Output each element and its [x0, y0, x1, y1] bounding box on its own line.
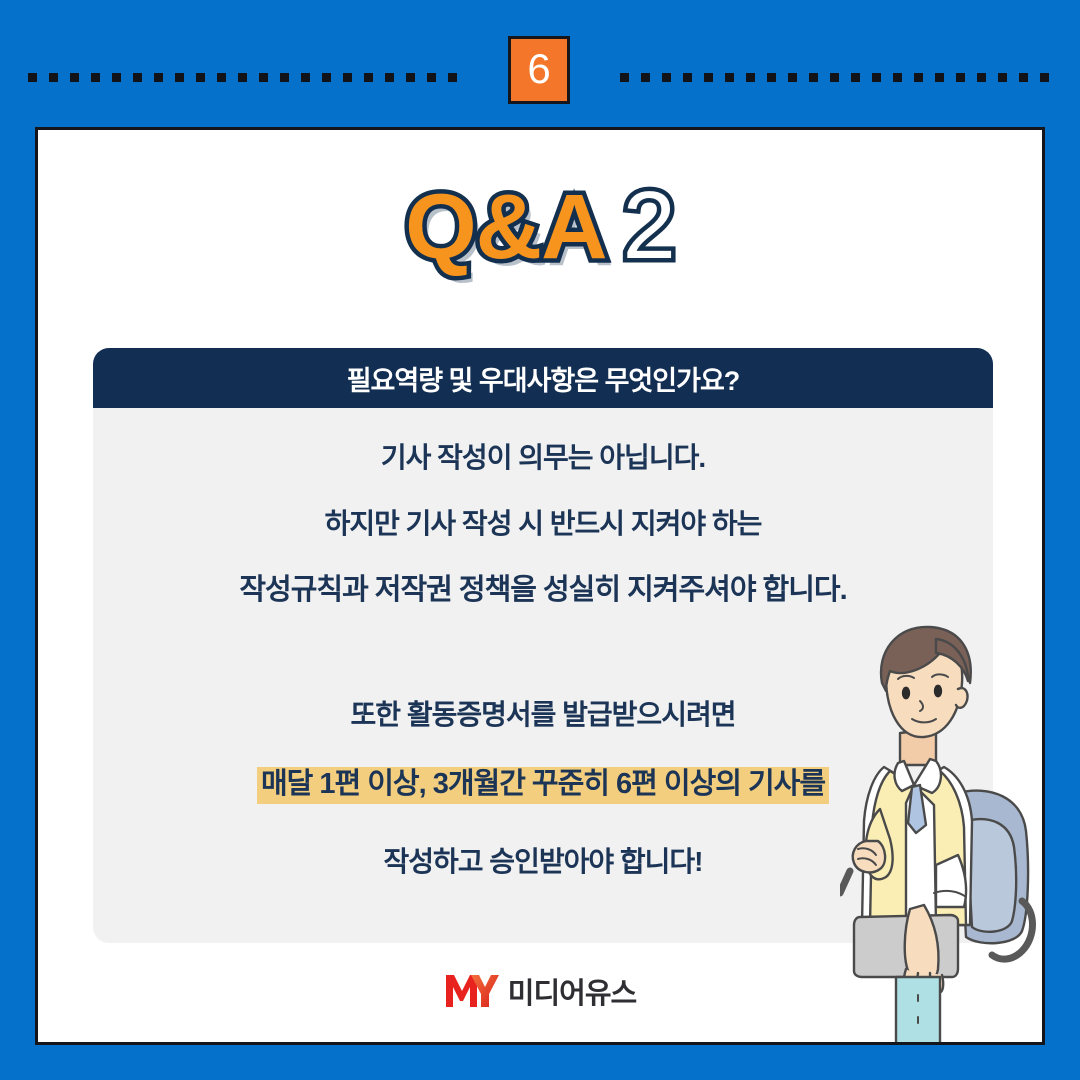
dotted-line-icon-right: [620, 73, 1054, 82]
answer-line: 매달 1편 이상, 3개월간 꾸준히 6편 이상의 기사를: [93, 767, 993, 804]
question-header: 필요역량 및 우대사항은 무엇인가요?: [93, 348, 993, 408]
top-bar: 6: [0, 0, 1080, 127]
answer-line: 또한 활동증명서를 발급받으시려면: [93, 701, 993, 729]
answer-line: 작성규칙과 저작권 정책을 성실히 지켜주셔야 합니다.: [93, 576, 993, 605]
content-card: Q&A2 필요역량 및 우대사항은 무엇인가요? 기사 작성이 의무는 아닙니다…: [35, 127, 1045, 1045]
qa-panel: 필요역량 및 우대사항은 무엇인가요? 기사 작성이 의무는 아닙니다.하지만 …: [93, 348, 993, 943]
answer-line: 하지만 기사 작성 시 반드시 지켜야 하는: [93, 510, 993, 538]
my-logo-mark-icon: [444, 974, 500, 1008]
answer-line: 기사 작성이 의무는 아닙니다.: [93, 444, 993, 472]
brand-logo: 미디어유스: [38, 970, 1042, 1012]
brand-name: 미디어유스: [508, 970, 636, 1012]
page-title: Q&A2: [38, 178, 1042, 274]
highlighted-text: 매달 1편 이상, 3개월간 꾸준히 6편 이상의 기사를: [257, 767, 829, 804]
page-number-badge: 6: [508, 36, 570, 104]
page-number-label: 6: [527, 48, 550, 90]
dotted-line-icon-left: [28, 73, 458, 82]
question-text: 필요역량 및 우대사항은 무엇인가요?: [347, 359, 740, 398]
page-title-primary: Q&A: [405, 176, 606, 278]
answer-body: 기사 작성이 의무는 아닙니다.하지만 기사 작성 시 반드시 지켜야 하는작성…: [93, 408, 993, 943]
page-title-index: 2: [623, 172, 675, 279]
answer-line: 작성하고 승인받아야 합니다!: [93, 848, 993, 876]
